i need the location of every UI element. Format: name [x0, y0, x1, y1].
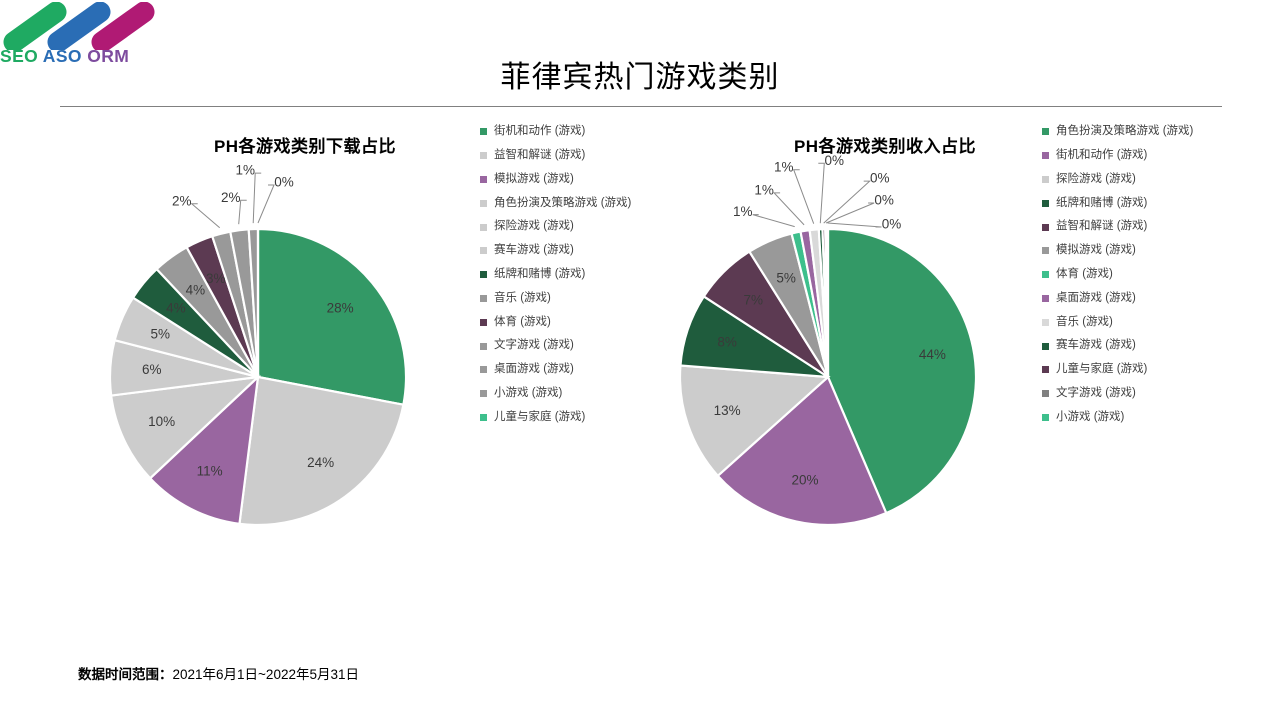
data-range-label: 数据时间范围：: [78, 667, 173, 682]
legend-item-label: 音乐 (游戏): [1056, 317, 1113, 329]
legend-item[interactable]: 桌面游戏 (游戏): [1042, 287, 1193, 311]
legend-item[interactable]: 角色扮演及策略游戏 (游戏): [480, 191, 631, 215]
pie-slice-label: 1%: [774, 159, 794, 174]
pie-slice-label: 28%: [327, 301, 354, 316]
pie-slice-label: 1%: [754, 182, 774, 197]
page-title: 菲律宾热门游戏类别: [0, 52, 1280, 96]
legend-item[interactable]: 音乐 (游戏): [480, 287, 631, 311]
logo-mark-icon: [0, 2, 176, 50]
legend-item[interactable]: 探险游戏 (游戏): [480, 215, 631, 239]
legend-swatch-icon: [1042, 414, 1049, 421]
pie-slice-label: 0%: [274, 175, 294, 190]
legend-item-label: 探险游戏 (游戏): [1056, 174, 1136, 186]
leader-line: [826, 203, 874, 223]
legend-item[interactable]: 益智和解谜 (游戏): [1042, 215, 1193, 239]
pie-slice-label: 1%: [733, 204, 753, 219]
legend-item[interactable]: 儿童与家庭 (游戏): [1042, 358, 1193, 382]
leader-line: [824, 181, 870, 223]
pie-slice-label: 2%: [172, 193, 192, 208]
data-range-value: 2021年6月1日~2022年5月31日: [173, 667, 360, 682]
legend-swatch-icon: [1042, 271, 1049, 278]
legend-item-label: 儿童与家庭 (游戏): [1056, 364, 1147, 376]
legend-item[interactable]: 体育 (游戏): [1042, 263, 1193, 287]
legend-swatch-icon: [480, 152, 487, 159]
legend-item[interactable]: 小游戏 (游戏): [480, 382, 631, 406]
legend-swatch-icon: [480, 128, 487, 135]
legend-item-label: 角色扮演及策略游戏 (游戏): [494, 198, 631, 210]
pie-slice-label: 1%: [235, 163, 255, 178]
leader-line: [192, 204, 220, 228]
legend-swatch-icon: [1042, 247, 1049, 254]
legend-item-label: 角色扮演及策略游戏 (游戏): [1056, 126, 1193, 138]
pie-slice-label: 3%: [206, 271, 226, 286]
leader-line: [774, 193, 804, 225]
legend-swatch-icon: [1042, 200, 1049, 207]
legend-item[interactable]: 体育 (游戏): [480, 310, 631, 334]
legend-item-label: 小游戏 (游戏): [1056, 412, 1124, 424]
pie-slice-label: 0%: [870, 171, 890, 186]
pie-slice-label: 8%: [717, 334, 737, 349]
legend-item[interactable]: 纸牌和赌博 (游戏): [1042, 191, 1193, 215]
legend-swatch-icon: [480, 366, 487, 373]
slide: SEO ASO ORM 菲律宾热门游戏类别 PH各游戏类别下载占比 28%24%…: [0, 0, 1280, 720]
pie-slice: [239, 377, 403, 525]
legend-item-label: 模拟游戏 (游戏): [1056, 245, 1136, 257]
legend-item[interactable]: 桌面游戏 (游戏): [480, 358, 631, 382]
pie-slice-label: 4%: [186, 282, 206, 297]
leader-line: [794, 170, 814, 224]
pie-slice-label: 6%: [142, 362, 162, 377]
pie-slice-label: 0%: [874, 193, 894, 208]
legend-swatch-icon: [480, 295, 487, 302]
legend-swatch-icon: [480, 414, 487, 421]
legend-item-label: 桌面游戏 (游戏): [494, 364, 574, 376]
pie-slice-label: 0%: [825, 153, 845, 168]
pie-slice-label: 0%: [882, 217, 902, 232]
legend-item[interactable]: 小游戏 (游戏): [1042, 406, 1193, 430]
legend-swatch-icon: [480, 271, 487, 278]
pie-slice-label: 20%: [791, 473, 818, 488]
legend-item-label: 文字游戏 (游戏): [1056, 388, 1136, 400]
legend-item[interactable]: 儿童与家庭 (游戏): [480, 406, 631, 430]
legend-item-label: 纸牌和赌博 (游戏): [1056, 198, 1147, 210]
legend-swatch-icon: [1042, 390, 1049, 397]
legend-swatch-icon: [480, 247, 487, 254]
leader-line: [258, 185, 274, 223]
pie-chart-downloads: 28%24%11%10%6%5%4%4%3%2%2%1%0%: [70, 162, 470, 592]
legend-item-label: 桌面游戏 (游戏): [1056, 293, 1136, 305]
legend-swatch-icon: [480, 343, 487, 350]
pie-slice-label: 2%: [221, 190, 241, 205]
legend-item-label: 街机和动作 (游戏): [494, 126, 585, 138]
title-divider: [60, 106, 1222, 107]
legend-item-label: 体育 (游戏): [1056, 269, 1113, 281]
legend-item-label: 儿童与家庭 (游戏): [494, 412, 585, 424]
legend-item-label: 小游戏 (游戏): [494, 388, 562, 400]
leader-line: [818, 163, 824, 223]
legend-item-label: 模拟游戏 (游戏): [494, 174, 574, 186]
leader-line: [753, 215, 795, 227]
legend-swatch-icon: [480, 200, 487, 207]
legend-downloads: 街机和动作 (游戏)益智和解谜 (游戏)模拟游戏 (游戏)角色扮演及策略游戏 (…: [480, 120, 631, 429]
legend-swatch-icon: [480, 319, 487, 326]
pie-slice-label: 13%: [714, 403, 741, 418]
legend-swatch-icon: [480, 390, 487, 397]
legend-item-label: 街机和动作 (游戏): [1056, 150, 1147, 162]
leader-line: [253, 173, 261, 223]
legend-swatch-icon: [1042, 128, 1049, 135]
pie-slice-label: 44%: [919, 347, 946, 362]
legend-swatch-icon: [1042, 224, 1049, 231]
leader-line: [828, 223, 882, 227]
legend-swatch-icon: [480, 176, 487, 183]
pie-slice-label: 7%: [743, 293, 763, 308]
pie-slice-label: 5%: [776, 271, 796, 286]
legend-item[interactable]: 街机和动作 (游戏): [1042, 144, 1193, 168]
legend-item[interactable]: 文字游戏 (游戏): [480, 334, 631, 358]
pie-slice-label: 11%: [197, 463, 223, 478]
pie-slice-label: 24%: [307, 455, 334, 470]
pie-slice: [258, 229, 406, 405]
legend-swatch-icon: [1042, 366, 1049, 373]
legend-swatch-icon: [1042, 295, 1049, 302]
legend-item-label: 体育 (游戏): [494, 317, 551, 329]
legend-item-label: 音乐 (游戏): [494, 293, 551, 305]
data-range-note: 数据时间范围：2021年6月1日~2022年5月31日: [78, 663, 359, 683]
legend-item-label: 纸牌和赌博 (游戏): [494, 269, 585, 281]
legend-swatch-icon: [1042, 152, 1049, 159]
legend-item[interactable]: 文字游戏 (游戏): [1042, 382, 1193, 406]
pie-chart-revenue: 44%20%13%8%7%5%1%1%1%0%0%0%0%: [640, 162, 1040, 592]
legend-item-label: 探险游戏 (游戏): [494, 221, 574, 233]
legend-item-label: 赛车游戏 (游戏): [494, 245, 574, 257]
pie-slice-label: 10%: [148, 414, 175, 429]
legend-item-label: 赛车游戏 (游戏): [1056, 340, 1136, 352]
legend-item-label: 益智和解谜 (游戏): [1056, 221, 1147, 233]
legend-item-label: 益智和解谜 (游戏): [494, 150, 585, 162]
legend-item[interactable]: 角色扮演及策略游戏 (游戏): [1042, 120, 1193, 144]
legend-swatch-icon: [1042, 343, 1049, 350]
legend-item[interactable]: 探险游戏 (游戏): [1042, 168, 1193, 192]
legend-swatch-icon: [1042, 176, 1049, 183]
legend-item[interactable]: 模拟游戏 (游戏): [480, 168, 631, 192]
legend-item-label: 文字游戏 (游戏): [494, 340, 574, 352]
legend-item[interactable]: 音乐 (游戏): [1042, 310, 1193, 334]
legend-item[interactable]: 赛车游戏 (游戏): [480, 239, 631, 263]
pie-slice: [827, 229, 828, 377]
legend-revenue: 角色扮演及策略游戏 (游戏)街机和动作 (游戏)探险游戏 (游戏)纸牌和赌博 (…: [1042, 120, 1193, 429]
legend-item[interactable]: 纸牌和赌博 (游戏): [480, 263, 631, 287]
legend-item[interactable]: 赛车游戏 (游戏): [1042, 334, 1193, 358]
pie-slice-label: 5%: [150, 326, 170, 341]
pie-slice-label: 4%: [166, 301, 186, 316]
legend-item[interactable]: 模拟游戏 (游戏): [1042, 239, 1193, 263]
legend-swatch-icon: [480, 224, 487, 231]
legend-swatch-icon: [1042, 319, 1049, 326]
